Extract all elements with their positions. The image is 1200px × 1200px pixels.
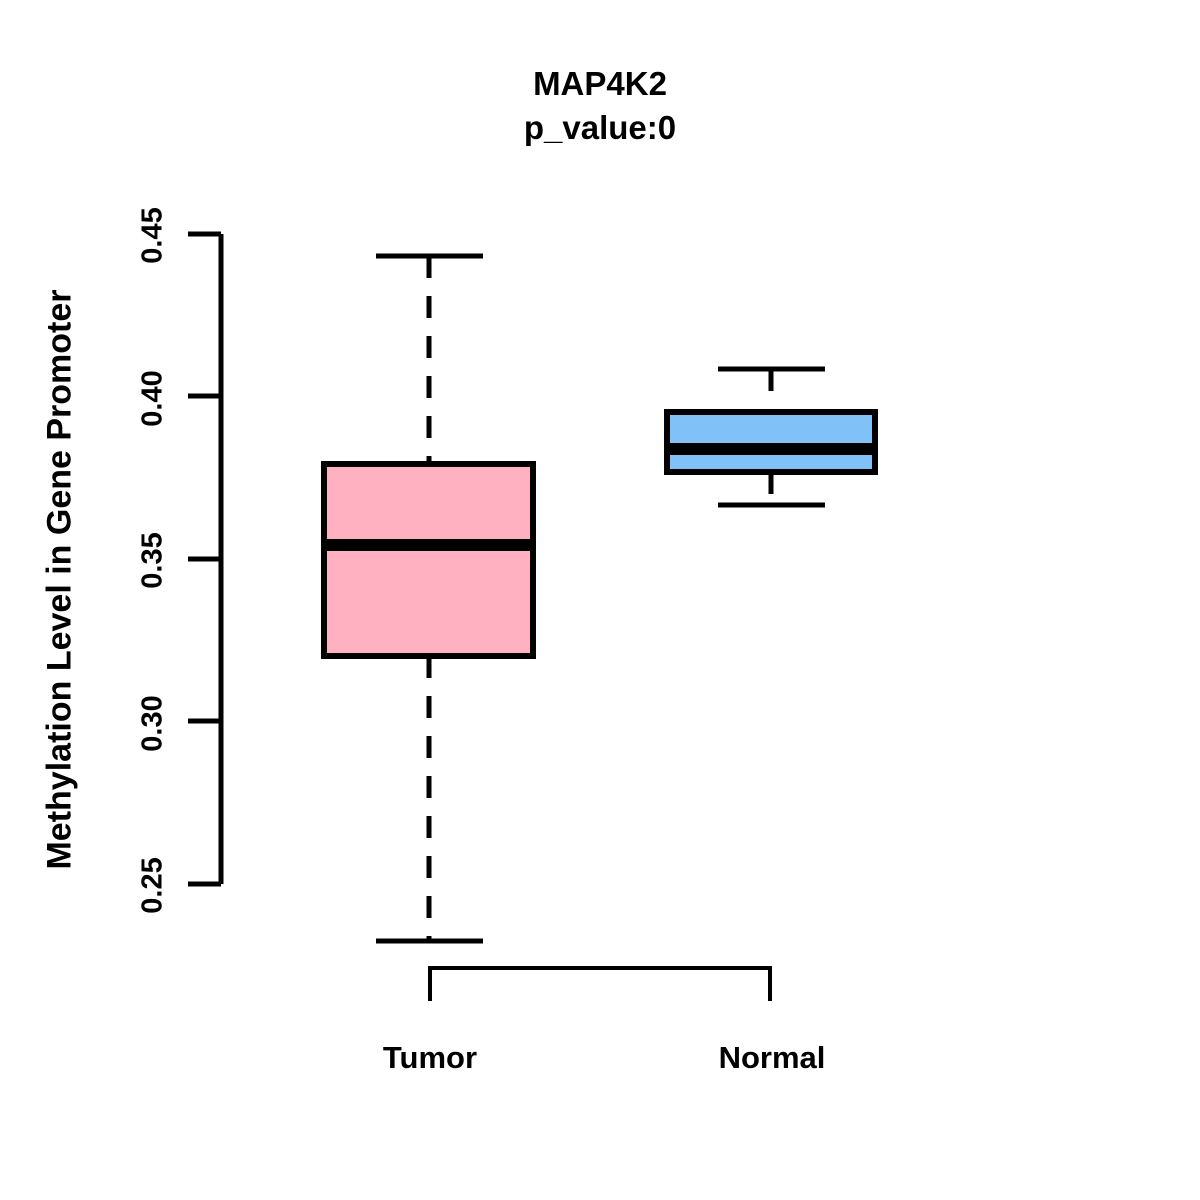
plot-canvas	[0, 0, 1200, 1200]
x-axis-bracket	[428, 968, 772, 1001]
box-normal[interactable]	[664, 369, 878, 505]
y-axis	[188, 234, 221, 884]
tumor-box-rect[interactable]	[324, 464, 533, 656]
normal-box-rect[interactable]	[667, 412, 875, 472]
box-tumor[interactable]	[321, 256, 536, 941]
boxplot-figure: MAP4K2 p_value:0 Methylation Level in Ge…	[0, 0, 1200, 1200]
